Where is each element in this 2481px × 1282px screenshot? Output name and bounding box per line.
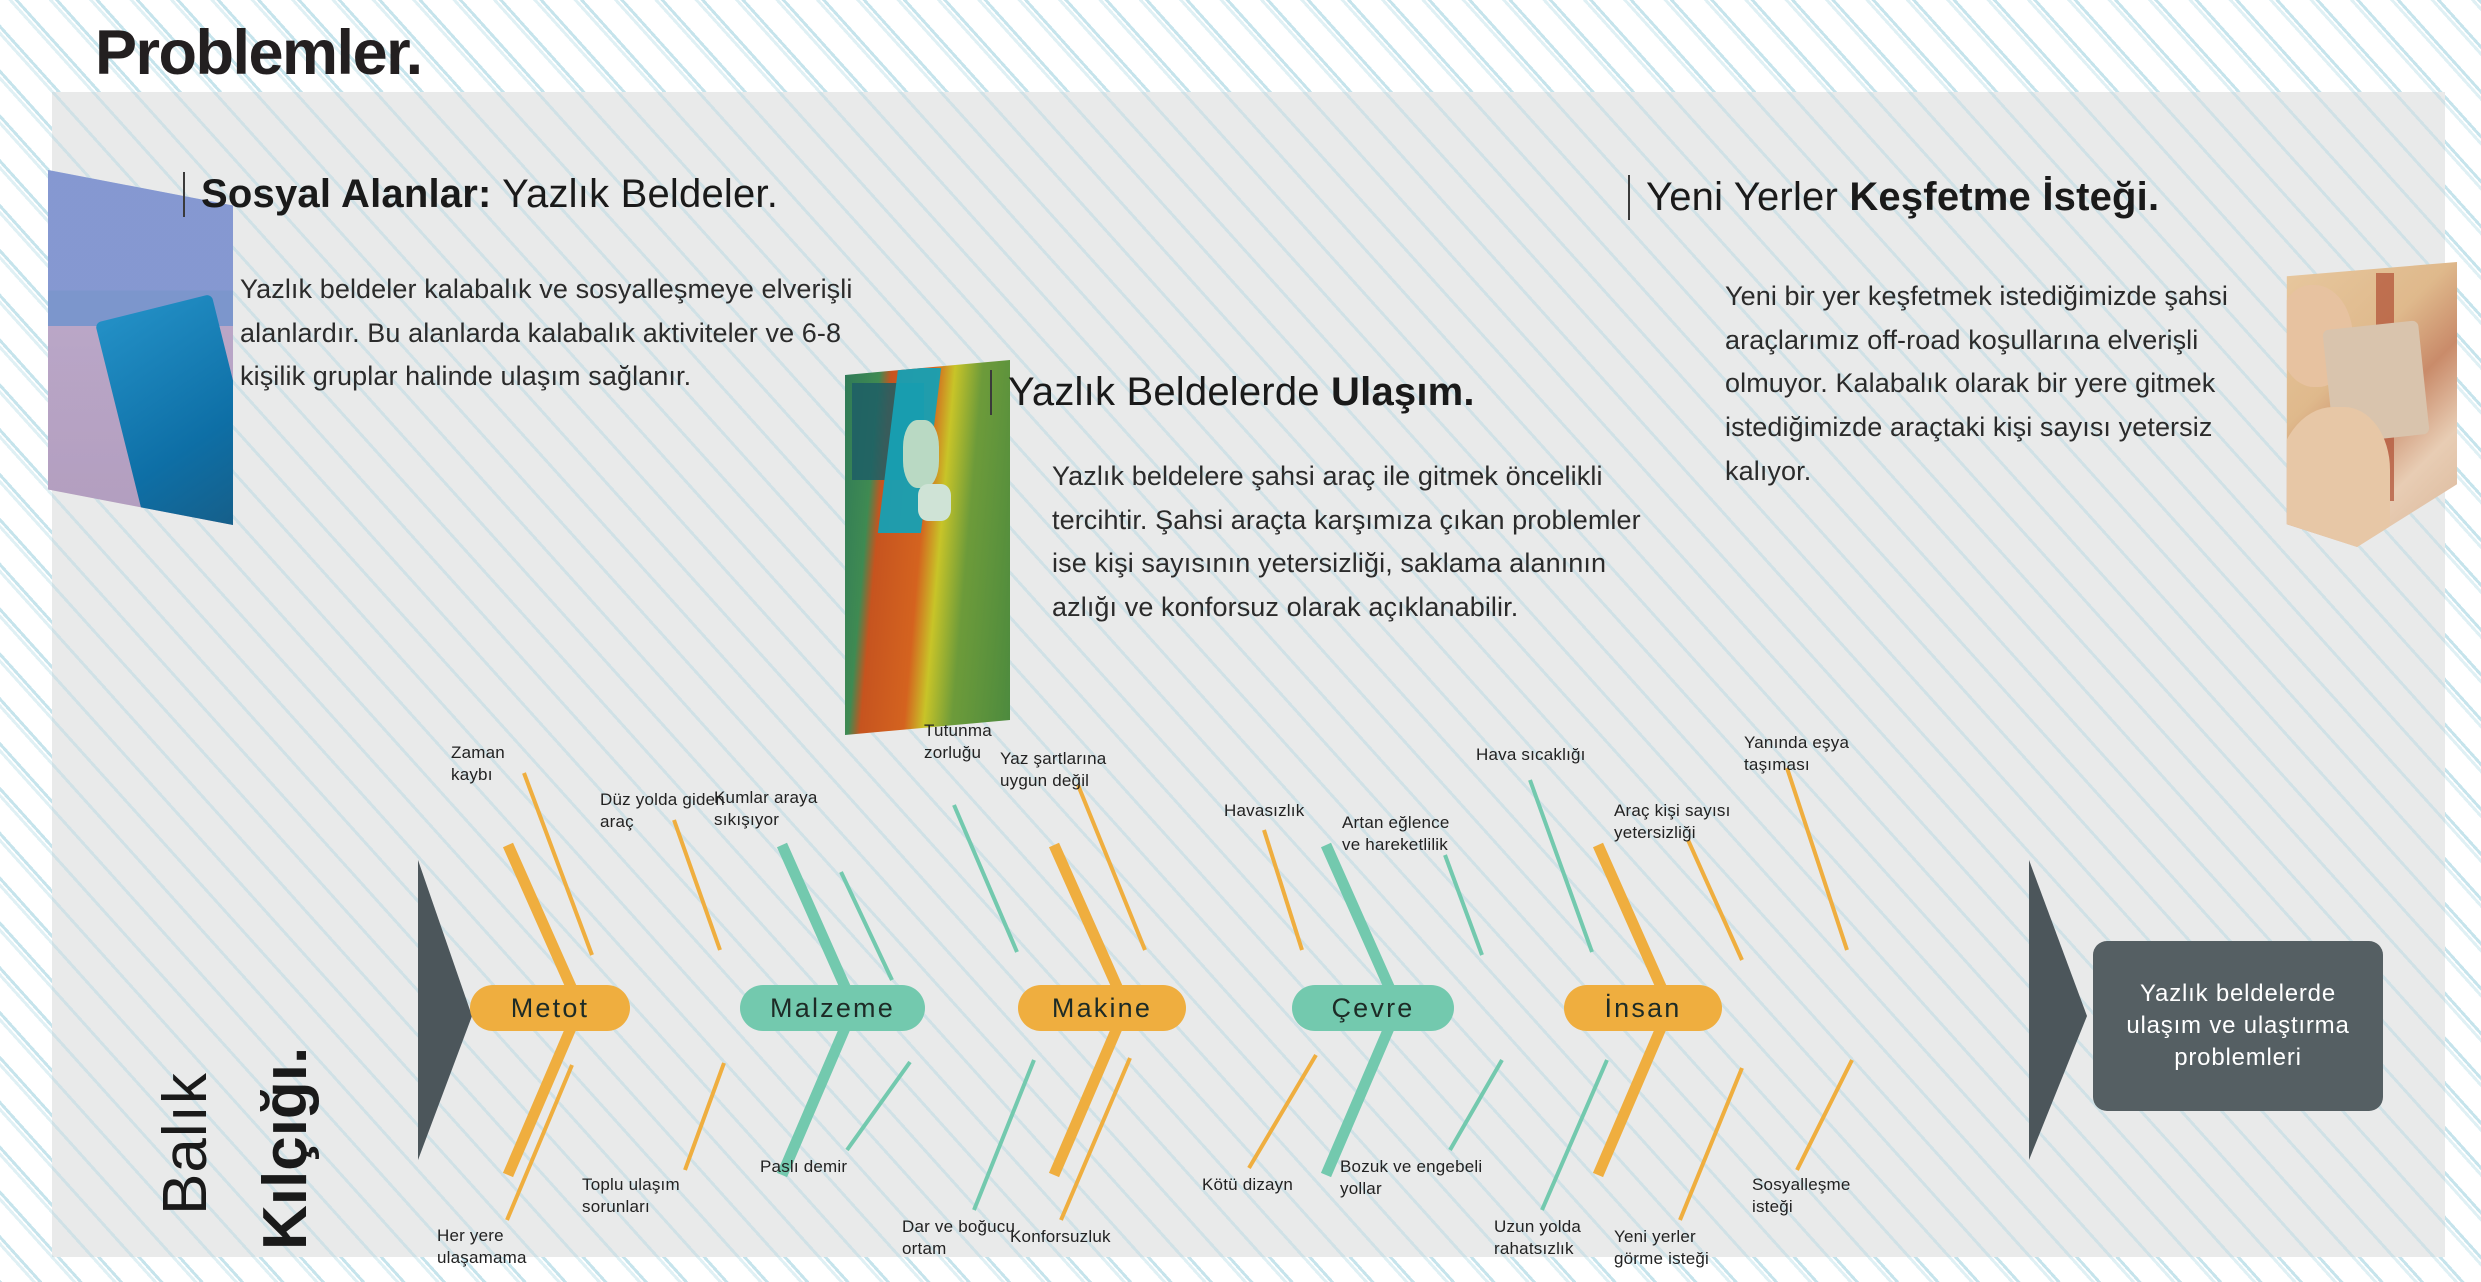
fishbone-category-malzeme[interactable]: Malzeme	[740, 985, 925, 1031]
cause-label-sosyallesme-istegi: Sosyalleşme isteği	[1752, 1174, 1851, 1218]
section-2-heading-bold: Ulaşım.	[1331, 370, 1475, 414]
van-photo	[845, 360, 1010, 735]
fishbone-category-metot[interactable]: Metot	[470, 985, 630, 1031]
van-leg-shape	[903, 420, 939, 488]
fishbone-start-arrow	[418, 860, 472, 1160]
cause-label-tutunma-zorlugu: Tutunma zorluğu	[924, 720, 992, 764]
cause-label-yeni-yerler-gorme-istegi: Yeni yerler görme isteği	[1614, 1226, 1709, 1270]
cause-line-hava-sicakligi	[1530, 780, 1592, 952]
cause-label-dar-ve-bogucu-ortam: Dar ve boğucu ortam	[902, 1216, 1015, 1260]
section-1-heading-bold: Sosyal Alanlar:	[201, 172, 492, 216]
section-1-heading: Sosyal Alanlar: Yazlık Beldeler.	[183, 172, 778, 217]
cause-label-kotu-dizayn: Kötü dizayn	[1202, 1174, 1293, 1196]
cause-line-bozuk-engebeli	[1450, 1060, 1502, 1150]
cause-label-havasizlik: Havasızlık	[1224, 800, 1304, 822]
cause-line-havasizlik	[1264, 830, 1302, 950]
cause-line-zaman-kaybi	[524, 773, 592, 955]
cause-line-dar-ve-bogucu	[974, 1060, 1034, 1210]
cause-label-kumlar-araya-sikisiyor: Kumlar araya sıkışıyor	[714, 787, 818, 831]
fishbone-diagram: Metot Malzeme Makine Çevre İnsan Zaman k…	[52, 720, 2445, 1257]
cause-label-konforsuzluk: Konforsuzluk	[1010, 1226, 1111, 1248]
cause-label-her-yere-ulasamama: Her yere ulaşamama	[437, 1225, 527, 1269]
section-1-body: Yazlık beldeler kalabalık ve sosyalleşme…	[240, 268, 860, 399]
beach-towel-photo	[48, 170, 233, 525]
fishbone-category-makine[interactable]: Makine	[1018, 985, 1186, 1031]
fishbone-end-arrow	[2029, 860, 2087, 1160]
fishbone-category-insan[interactable]: İnsan	[1564, 985, 1722, 1031]
page-title: Problemler.	[95, 17, 422, 89]
cause-line-kumlar-araya	[841, 872, 892, 980]
cause-line-arac-kisi-sayisi	[1688, 840, 1742, 960]
cause-label-hava-sicakligi: Hava sıcaklığı	[1476, 744, 1586, 766]
cause-label-pasli-demir: Paslı demir	[760, 1156, 847, 1178]
cause-line-tutunma	[954, 805, 1017, 952]
cause-line-sosyallesme	[1797, 1060, 1852, 1170]
cause-label-arac-kisi-sayisi-yetersizligi: Araç kişi sayısı yetersizliği	[1614, 800, 1731, 844]
towel-shape	[95, 294, 233, 525]
fishbone-result-box[interactable]: Yazlık beldelerde ulaşım ve ulaştırma pr…	[2093, 941, 2383, 1111]
section-3-heading-light: Yeni Yerler	[1646, 175, 1849, 219]
cause-line-duz-yolda	[674, 820, 720, 950]
cause-label-yaninda-esya-tasimasi: Yanında eşya taşıması	[1744, 732, 1849, 776]
cause-label-yaz-sartlarina-uygun-degil: Yaz şartlarına uygun değil	[1000, 748, 1106, 792]
cause-label-uzun-yolda-rahatsizlik: Uzun yolda rahatsızlık	[1494, 1216, 1581, 1260]
section-2-heading: Yazlık Beldelerde Ulaşım.	[990, 370, 1475, 415]
slide-canvas: Problemler. Sosyal Alanlar: Yazlık Belde…	[0, 0, 2481, 1282]
cause-label-toplu-ulasim-sorunlari: Toplu ulaşım sorunları	[582, 1174, 680, 1218]
cause-line-uzun-yolda	[1542, 1060, 1607, 1210]
cause-label-zaman-kaybi: Zaman kaybı	[451, 742, 505, 786]
section-2-heading-light: Yazlık Beldelerde	[1008, 370, 1331, 414]
section-3-body: Yeni bir yer keşfetmek istediğimizde şah…	[1725, 275, 2265, 494]
car-legs-shape	[2276, 407, 2391, 547]
section-1-heading-light: Yazlık Beldeler.	[492, 172, 779, 216]
cause-line-yeni-yerler	[1680, 1068, 1742, 1220]
cause-line-artan-eglence	[1445, 855, 1482, 955]
van-shoe-shape	[918, 484, 951, 522]
cause-line-pasli-demir	[847, 1062, 910, 1150]
section-3-heading: Yeni Yerler Keşfetme İsteği.	[1628, 175, 2159, 220]
cause-label-bozuk-ve-engebeli-yollar: Bozuk ve engebeli yollar	[1340, 1156, 1482, 1200]
cause-label-artan-eglence: Artan eğlence ve hareketlilik	[1342, 812, 1450, 856]
fishbone-category-cevre[interactable]: Çevre	[1292, 985, 1454, 1031]
cause-line-toplu-ulasim	[685, 1063, 724, 1170]
section-3-heading-bold: Keşfetme İsteği.	[1849, 175, 2159, 219]
cause-label-duz-yolda-giden-arac: Düz yolda giden araç	[600, 789, 725, 833]
cause-line-kotu-dizayn	[1249, 1055, 1316, 1168]
section-2-body: Yazlık beldelere şahsi araç ile gitmek ö…	[1052, 455, 1652, 630]
cause-line-yaninda-esya	[1787, 768, 1847, 950]
